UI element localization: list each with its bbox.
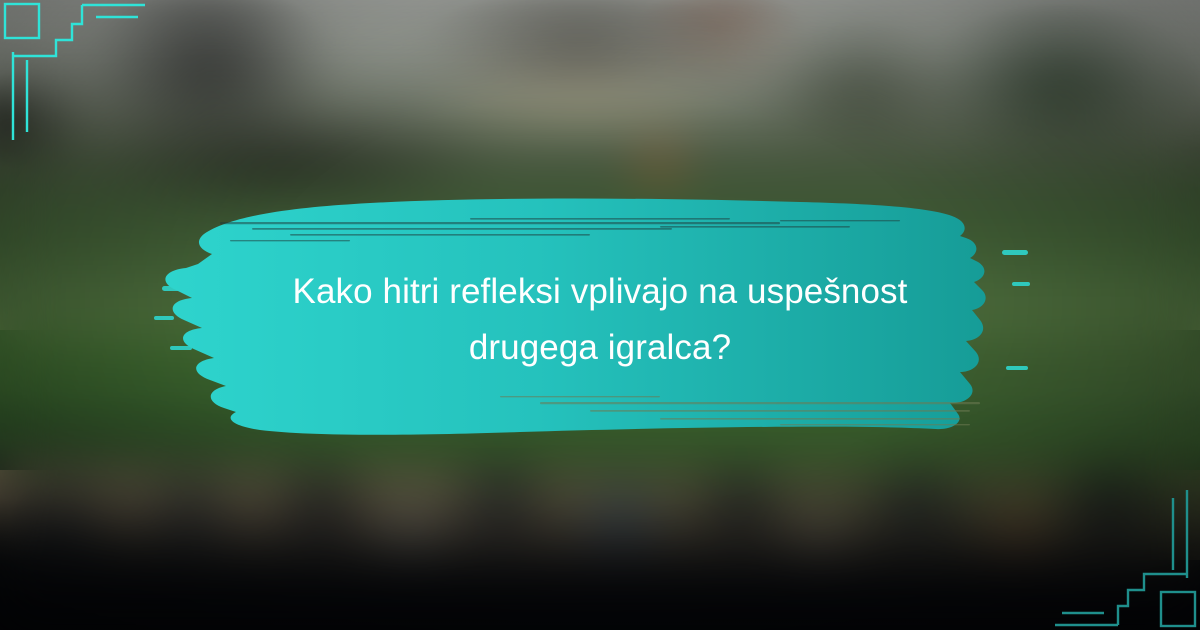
title-line-2: drugega igralca?	[469, 320, 731, 376]
title-line-1: Kako hitri refleksi vplivajo na uspešnos…	[293, 264, 908, 320]
share-card: Kako hitri refleksi vplivajo na uspešnos…	[0, 0, 1200, 630]
title-banner: Kako hitri refleksi vplivajo na uspešnos…	[140, 190, 1060, 450]
title-text-block: Kako hitri refleksi vplivajo na uspešnos…	[140, 190, 1060, 450]
